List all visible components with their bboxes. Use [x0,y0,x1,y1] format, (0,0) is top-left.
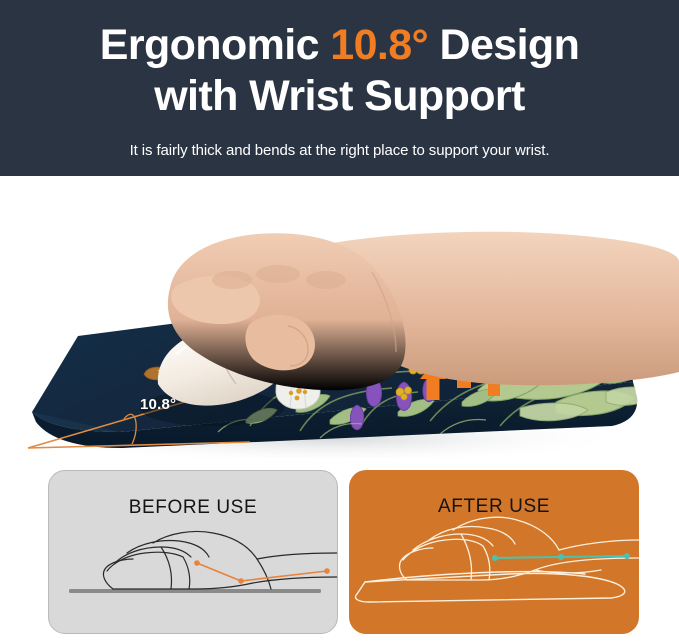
header-banner: Ergonomic 10.8° Design with Wrist Suppor… [0,0,679,176]
product-feature-image: Ergonomic 10.8° Design with Wrist Suppor… [0,0,679,644]
before-use-illustration [49,471,338,634]
headline-text-before: Ergonomic [100,21,331,69]
headline-text-after: Design [428,21,579,69]
wrist-angle-line [197,563,327,581]
header-subtitle: It is fairly thick and bends at the righ… [0,142,679,159]
angle-value-label: 10.8° [140,396,176,413]
after-use-panel: AFTER USE [349,470,639,634]
headline-line-2: with Wrist Support [154,72,525,120]
product-photo-illustration [0,176,679,458]
headline-angle-value: 10.8° [330,21,428,69]
comparison-panels: BEFORE USE [0,462,679,644]
before-use-panel: BEFORE USE [48,470,338,634]
after-use-illustration [349,470,639,634]
headline-line-1: Ergonomic 10.8° Design [100,21,580,69]
page-title: Ergonomic 10.8° Design with Wrist Suppor… [0,20,679,122]
hand-and-forearm [168,232,679,391]
product-photo [0,176,679,458]
wrist-angle-markers [194,560,330,584]
